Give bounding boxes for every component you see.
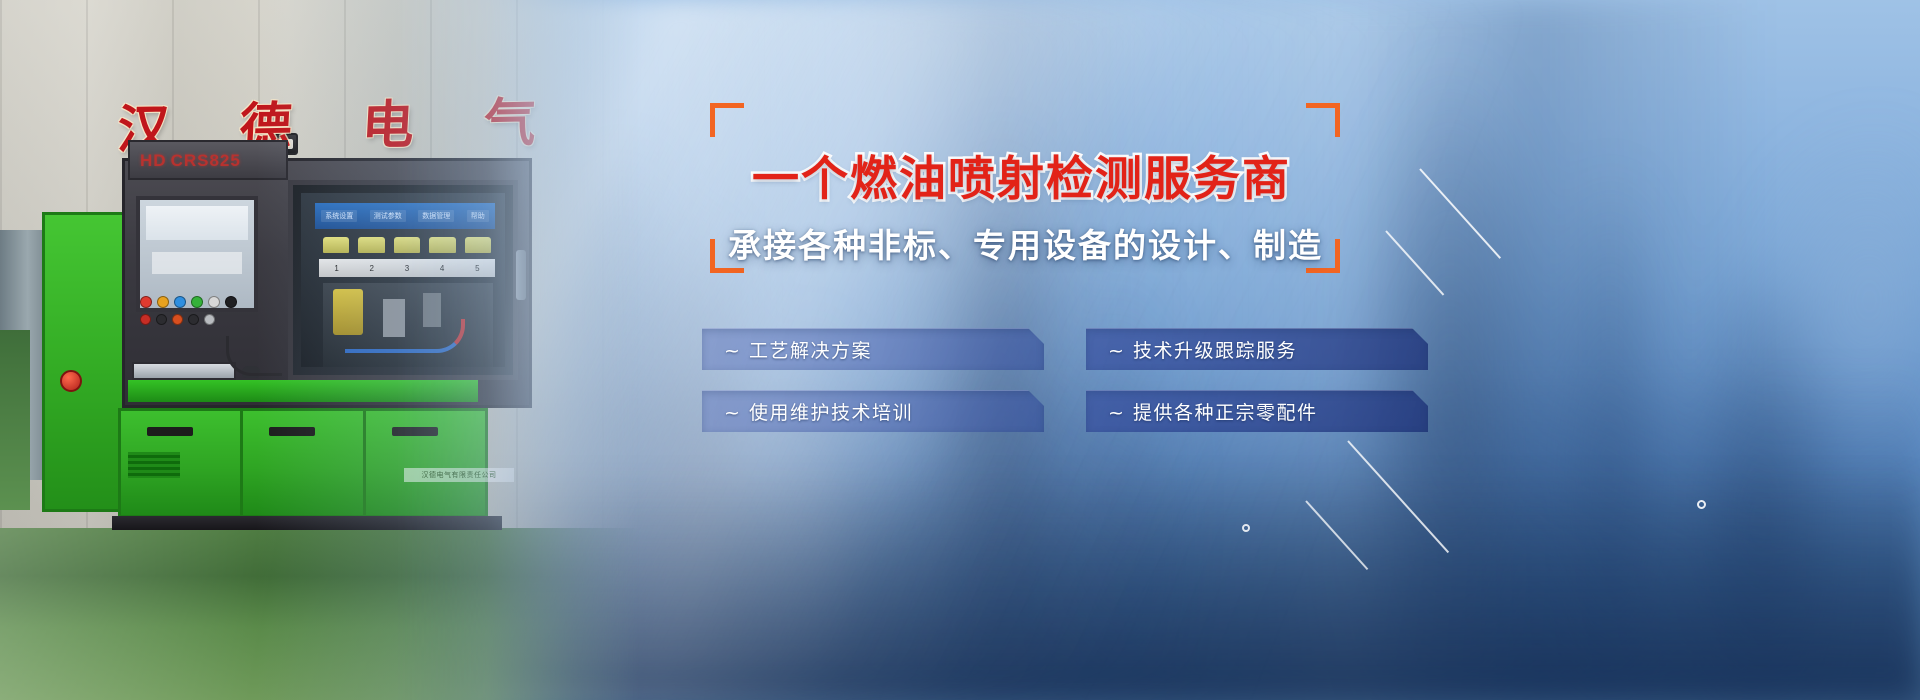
feature-button-genuine-parts[interactable]: ~ 提供各种正宗零配件: [1086, 390, 1428, 432]
decor-diagonal-line-4: [1305, 500, 1368, 570]
hero-headline: 一个燃油喷射检测服务商: [752, 140, 1291, 209]
feature-label: ~ 使用维护技术培训: [702, 398, 913, 425]
hero-banner: 汉 德 电 气 HD CRS825: [0, 0, 1920, 700]
corner-bracket-top-right-icon: [1306, 103, 1340, 137]
decor-diagonal-line-1: [1419, 168, 1501, 259]
feature-label: ~ 技术升级跟踪服务: [1086, 336, 1297, 363]
decor-diagonal-line-3: [1347, 440, 1449, 553]
feature-button-maintenance-training[interactable]: ~ 使用维护技术培训: [702, 390, 1044, 432]
feature-label: ~ 提供各种正宗零配件: [1086, 398, 1317, 425]
hero-subtitle: 承接各种非标、专用设备的设计、制造: [728, 219, 1323, 267]
decor-circle-2: [1242, 524, 1250, 532]
feature-button-process-solution[interactable]: ~ 工艺解决方案: [702, 328, 1044, 370]
decor-diagonal-line-2: [1385, 230, 1444, 295]
feature-label: ~ 工艺解决方案: [702, 336, 872, 363]
feature-button-grid: ~ 工艺解决方案 ~ 技术升级跟踪服务 ~ 使用维护技术培训 ~ 提供各种正宗零…: [702, 328, 1428, 432]
hero-content: 一个燃油喷射检测服务商 承接各种非标、专用设备的设计、制造 ~ 工艺解决方案 ~…: [0, 0, 1920, 700]
feature-button-tech-upgrade-service[interactable]: ~ 技术升级跟踪服务: [1086, 328, 1428, 370]
corner-bracket-top-left-icon: [710, 103, 744, 137]
decor-circle-1: [1697, 500, 1706, 509]
